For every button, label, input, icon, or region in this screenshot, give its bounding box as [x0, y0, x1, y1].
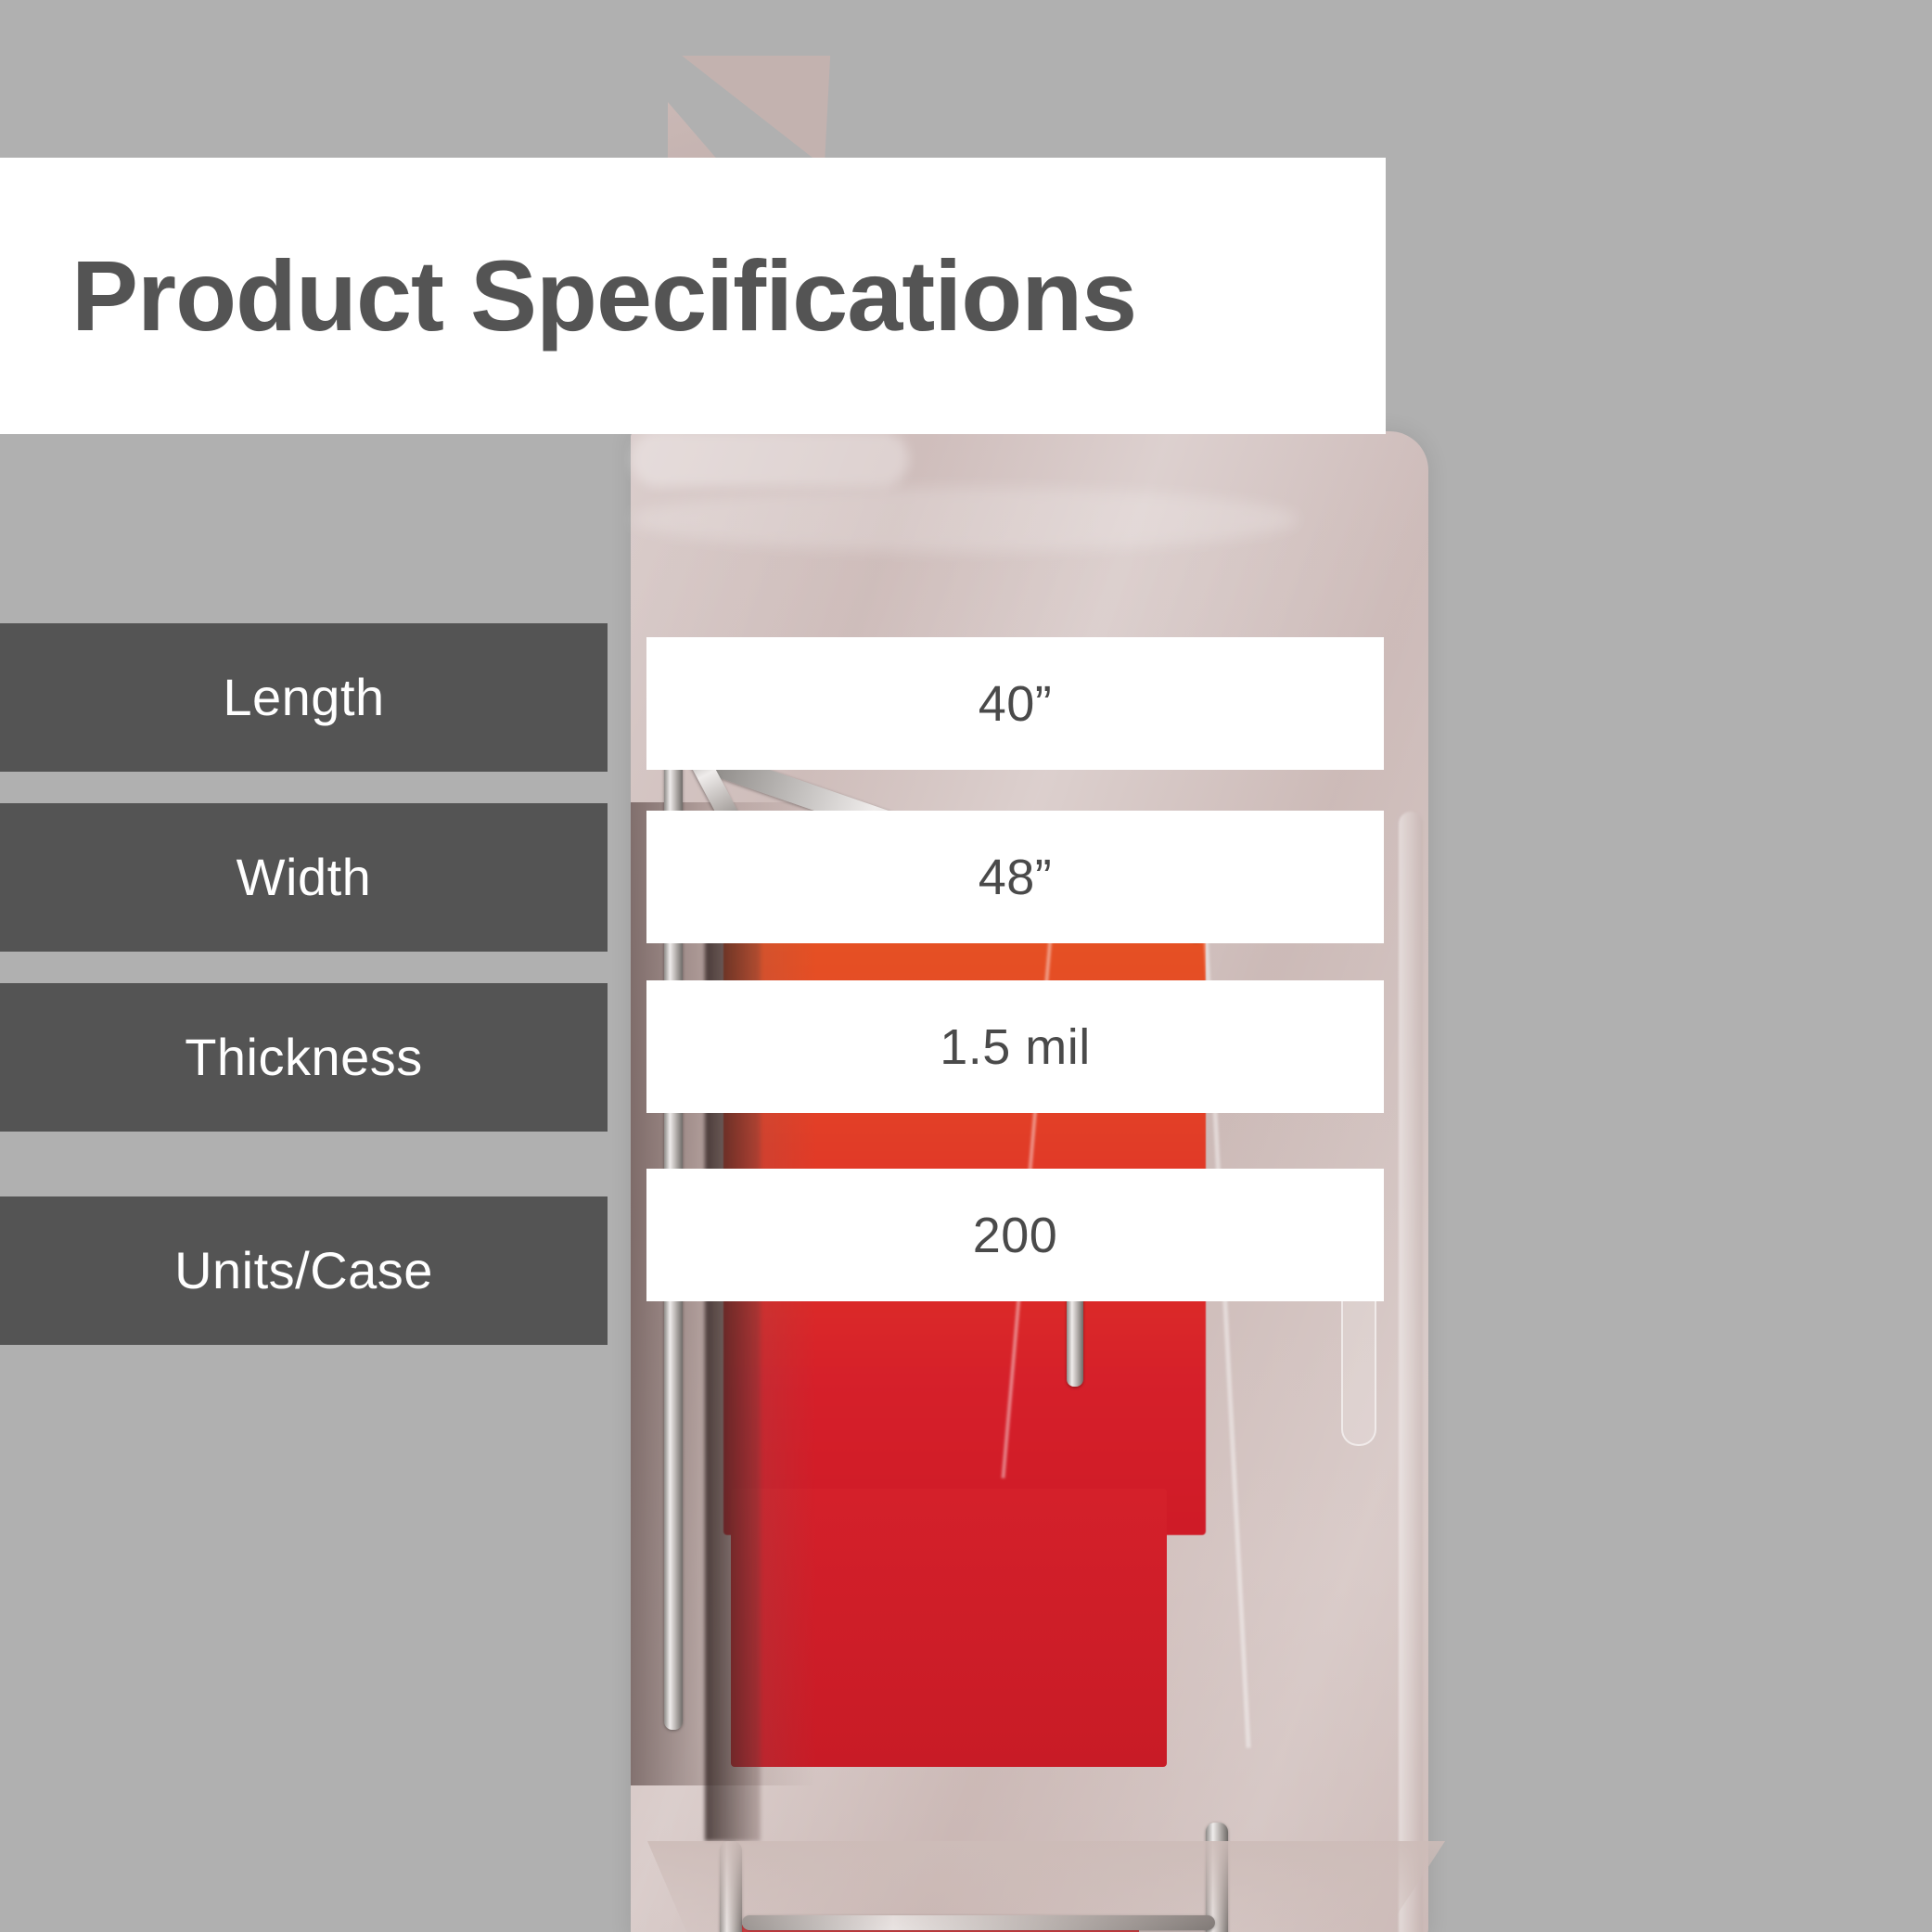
- specifications-table: Length 40” Width 48” Thickness 1.5 mil: [0, 0, 1932, 1932]
- product-spec-card: Product Specifications Length 40” Width …: [0, 0, 1932, 1932]
- spec-value-text: 40”: [979, 679, 1053, 729]
- spec-label-length: Length: [0, 623, 608, 772]
- spec-value-text: 1.5 mil: [940, 1022, 1091, 1072]
- spec-value-thickness: 1.5 mil: [646, 980, 1384, 1113]
- spec-label-thickness: Thickness: [0, 983, 608, 1132]
- spec-label-units-case: Units/Case: [0, 1196, 608, 1345]
- spec-value-units-case: 200: [646, 1169, 1384, 1301]
- spec-value-text: 48”: [979, 852, 1053, 902]
- spec-value-text: 200: [973, 1210, 1058, 1260]
- spec-label-text: Units/Case: [174, 1245, 433, 1297]
- spec-label-text: Thickness: [185, 1031, 423, 1083]
- spec-label-width: Width: [0, 803, 608, 952]
- spec-value-width: 48”: [646, 811, 1384, 943]
- spec-label-text: Length: [223, 672, 384, 723]
- spec-label-text: Width: [237, 851, 372, 903]
- spec-value-length: 40”: [646, 637, 1384, 770]
